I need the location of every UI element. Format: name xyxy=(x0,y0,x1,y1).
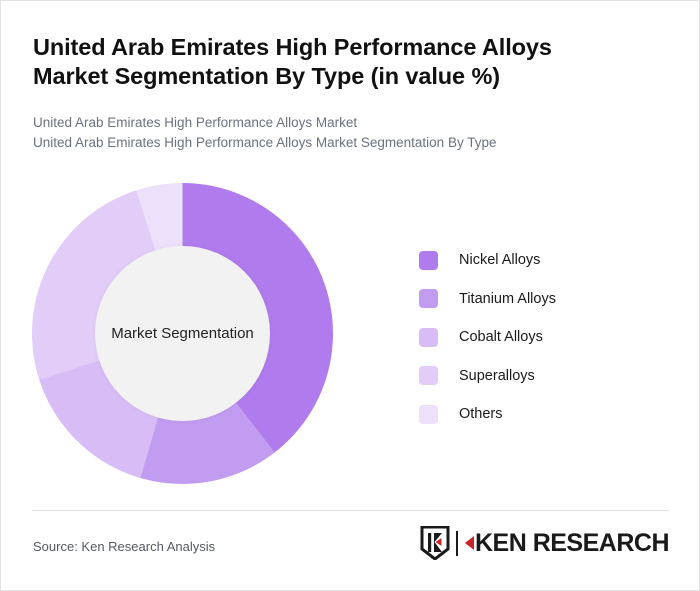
source-note: Source: Ken Research Analysis xyxy=(33,539,215,554)
legend-swatch-icon xyxy=(419,289,438,308)
chart-legend: Nickel AlloysTitanium AlloysCobalt Alloy… xyxy=(419,241,649,434)
legend-label: Superalloys xyxy=(459,368,535,384)
legend-swatch-icon xyxy=(419,405,438,424)
chart-page: United Arab Emirates High Performance Al… xyxy=(0,0,700,591)
legend-label: Cobalt Alloys xyxy=(459,329,543,345)
brand-separator xyxy=(456,531,458,556)
legend-item[interactable]: Superalloys xyxy=(419,357,649,396)
chart-canvas: United Arab Emirates High Performance Al… xyxy=(1,1,699,590)
legend-label: Titanium Alloys xyxy=(459,291,556,307)
legend-swatch-icon xyxy=(419,328,438,347)
legend-swatch-icon xyxy=(419,366,438,385)
subtitle-line-2: United Arab Emirates High Performance Al… xyxy=(33,133,653,153)
red-triangle-icon xyxy=(465,536,474,550)
footer-divider xyxy=(32,510,669,511)
legend-item[interactable]: Others xyxy=(419,395,649,434)
legend-item[interactable]: Nickel Alloys xyxy=(419,241,649,280)
legend-item[interactable]: Titanium Alloys xyxy=(419,280,649,319)
donut-center: Market Segmentation xyxy=(95,246,270,421)
donut-chart: Market Segmentation xyxy=(32,183,333,484)
legend-label: Others xyxy=(459,406,503,422)
brand-logo: KEN RESEARCH xyxy=(420,526,669,560)
brand-name: KEN RESEARCH xyxy=(465,529,669,558)
donut-center-label: Market Segmentation xyxy=(111,325,254,342)
legend-item[interactable]: Cobalt Alloys xyxy=(419,318,649,357)
legend-label: Nickel Alloys xyxy=(459,252,540,268)
chart-subtitle: United Arab Emirates High Performance Al… xyxy=(33,113,653,152)
legend-swatch-icon xyxy=(419,251,438,270)
page-title: United Arab Emirates High Performance Al… xyxy=(33,33,633,91)
subtitle-line-1: United Arab Emirates High Performance Al… xyxy=(33,113,653,133)
ken-research-logo-icon xyxy=(420,526,450,560)
brand-name-text: KEN RESEARCH xyxy=(475,529,669,558)
